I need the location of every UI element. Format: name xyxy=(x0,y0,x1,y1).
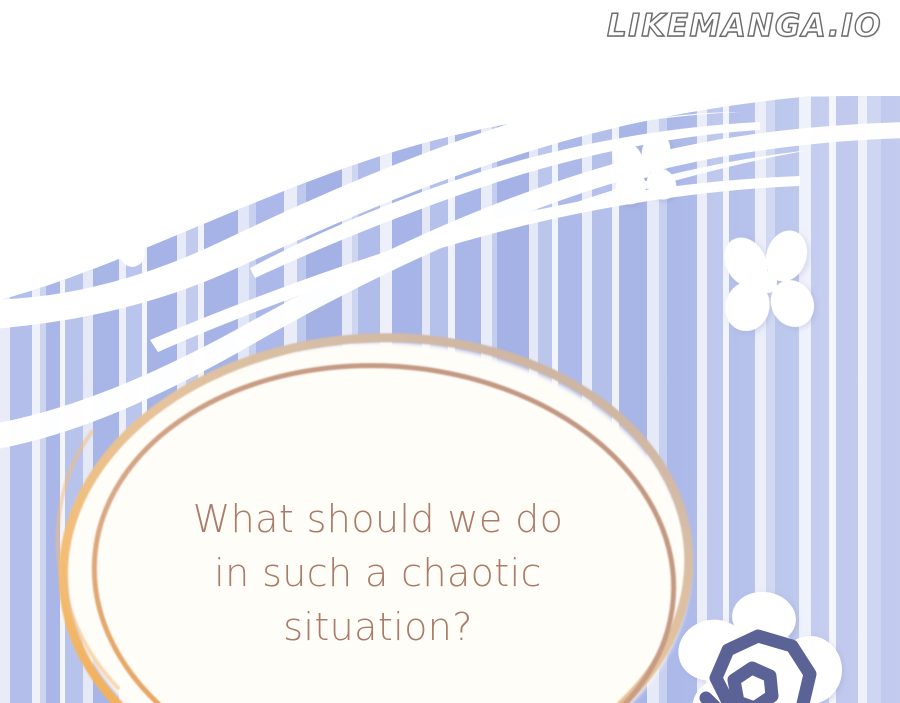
comic-panel: What should we do in such a chaotic situ… xyxy=(0,0,900,703)
speech-bubble[interactable]: What should we do in such a chaotic situ… xyxy=(0,0,900,703)
speech-bubble-text: What should we do in such a chaotic situ… xyxy=(96,492,660,654)
site-watermark: LIKEMANGA.IO xyxy=(607,8,882,44)
